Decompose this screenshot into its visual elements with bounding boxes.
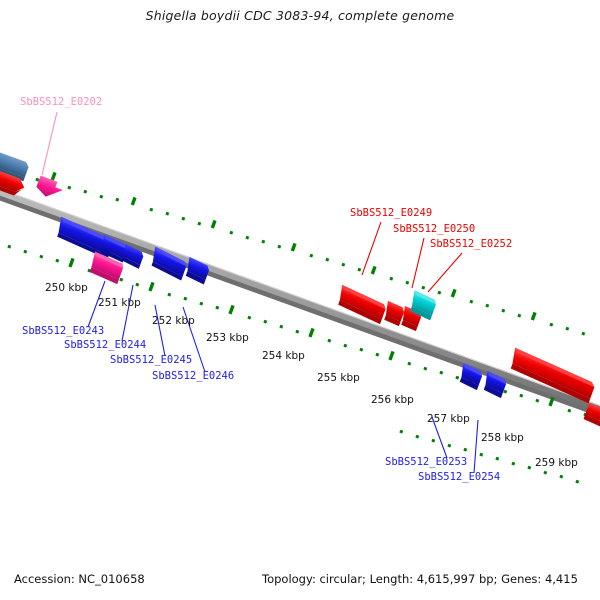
ruler-tick-label: 257 kbp <box>427 413 470 425</box>
leader-line-E0252 <box>428 253 462 292</box>
feature-label-E0202[interactable]: SbBS512_E0202 <box>20 96 102 108</box>
genome-map-viewer: Shigella boydii CDC 3083-94, complete ge… <box>0 0 600 600</box>
feature-label-E0253[interactable]: SbBS512_E0253 <box>385 456 467 468</box>
ruler-tick-label: 255 kbp <box>317 372 360 384</box>
ruler-tick-label: 251 kbp <box>98 297 141 309</box>
feature-label-E0250[interactable]: SbBS512_E0250 <box>393 223 475 235</box>
genome-summary-text: Topology: circular; Length: 4,615,997 bp… <box>262 572 578 586</box>
ruler-tick-label: 253 kbp <box>206 332 249 344</box>
feature-label-E0254[interactable]: SbBS512_E0254 <box>418 471 500 483</box>
accession-text: Accession: NC_010658 <box>14 572 145 586</box>
ruler-tick-label: 254 kbp <box>262 350 305 362</box>
feature-label-E0243[interactable]: SbBS512_E0243 <box>22 325 104 337</box>
leader-line-E0250 <box>412 238 424 288</box>
feature-SbBS512_E0250[interactable] <box>381 301 406 326</box>
feature-label-E0249[interactable]: SbBS512_E0249 <box>350 207 432 219</box>
leader-line-E0244 <box>122 285 133 341</box>
genome-backbone[interactable] <box>0 185 600 420</box>
gene-feature-pink-arrow[interactable] <box>34 176 65 202</box>
ruler-tick-label: 250 kbp <box>45 282 88 294</box>
ruler-tick-label: 259 kbp <box>535 457 578 469</box>
ruler-tick-label: 256 kbp <box>371 394 414 406</box>
feature-label-E0244[interactable]: SbBS512_E0244 <box>64 339 146 351</box>
feature-label-E0252[interactable]: SbBS512_E0252 <box>430 238 512 250</box>
feature-SbBS512_E0202[interactable] <box>34 176 65 202</box>
genome-map-canvas[interactable]: SbBS512_E0202 SbBS512_E0243 SbBS512_E024… <box>0 0 600 600</box>
ruler-tick-label: 258 kbp <box>481 432 524 444</box>
leader-line-E0249 <box>362 222 381 275</box>
leader-line-E0245 <box>155 305 165 356</box>
ruler-tick-label: 252 kbp <box>152 315 195 327</box>
leader-line-E0254 <box>474 420 478 473</box>
feature-label-E0245[interactable]: SbBS512_E0245 <box>110 354 192 366</box>
leader-line-E0202 <box>42 112 57 175</box>
feature-label-E0246[interactable]: SbBS512_E0246 <box>152 370 234 382</box>
